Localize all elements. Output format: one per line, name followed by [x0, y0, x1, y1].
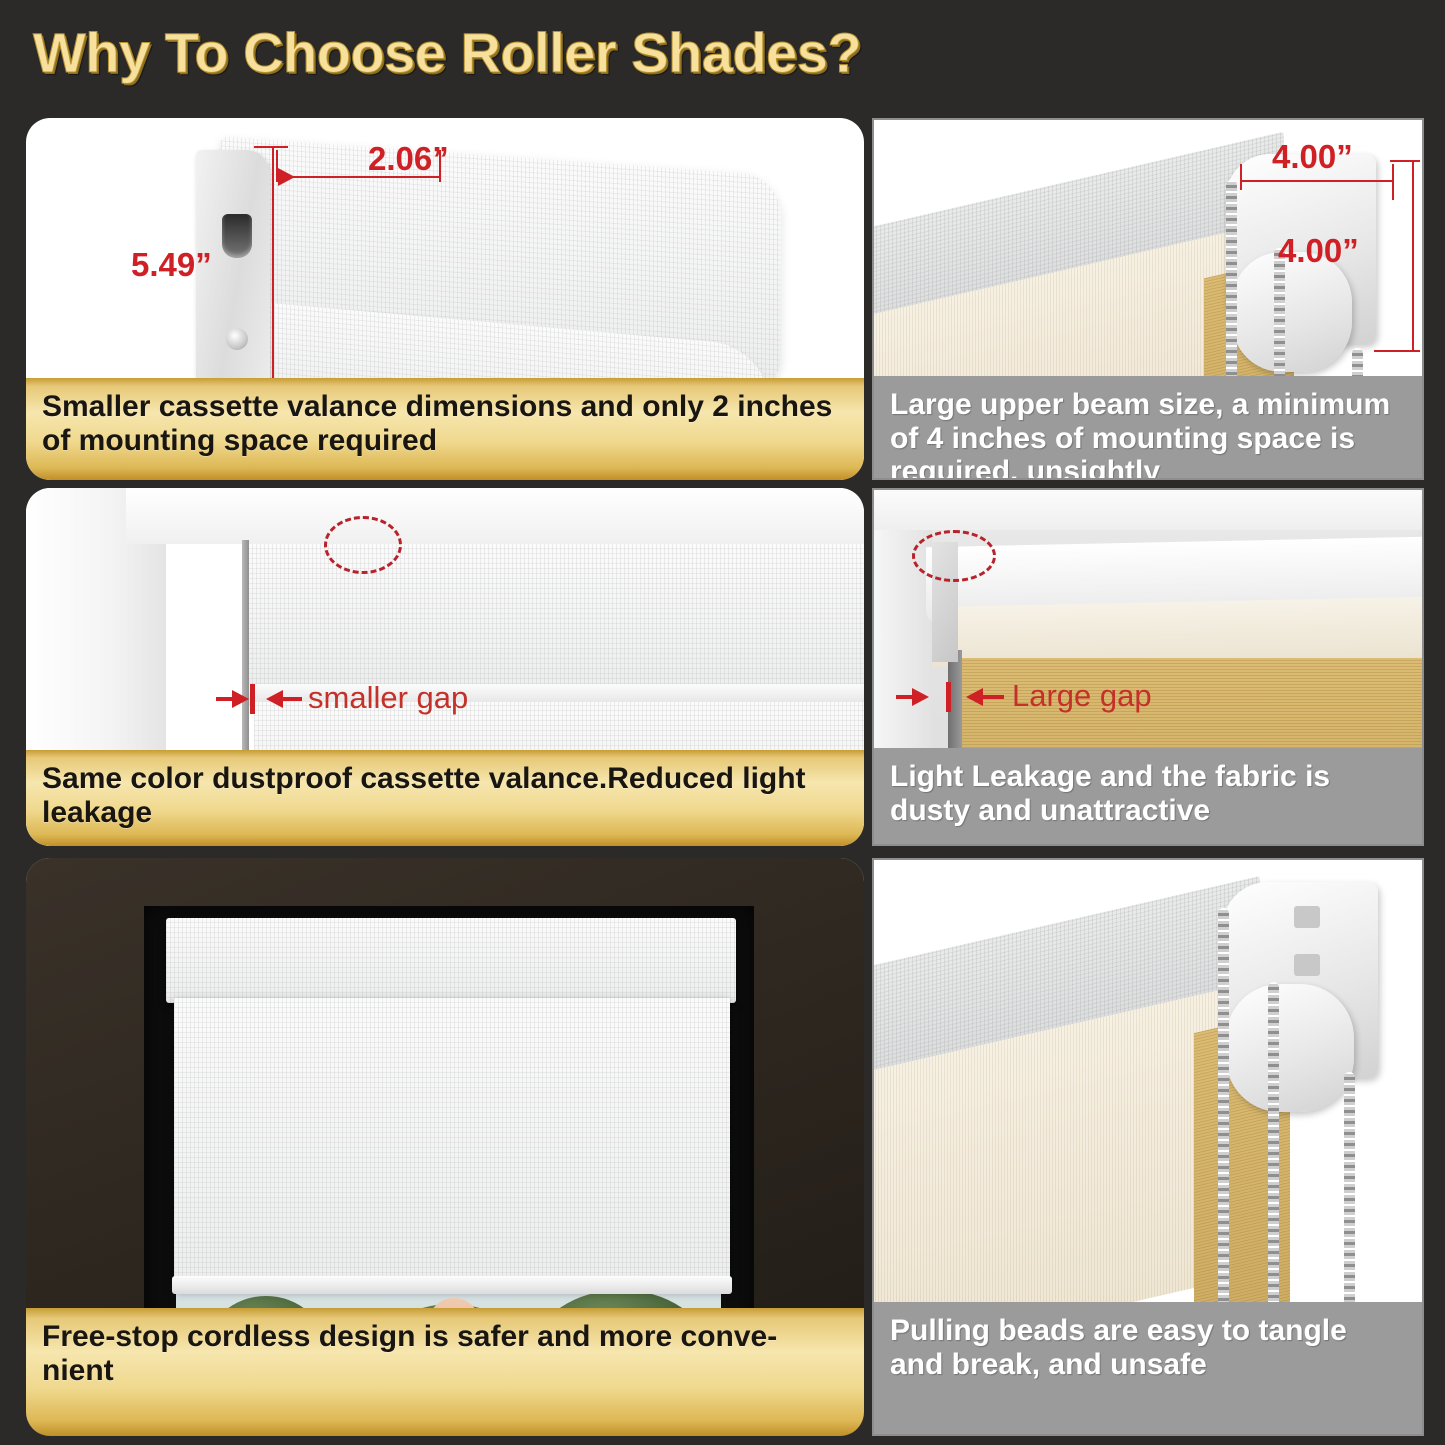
gap-arrow-right [912, 688, 929, 706]
window-frame-top [126, 488, 864, 544]
width-dim-label: 2.06” [368, 140, 449, 178]
height-dim-line [272, 146, 274, 398]
height-dim-tick-bottom [1374, 350, 1420, 352]
panel-2-caption: Large upper beam size, a minimum of 4 in… [874, 376, 1422, 478]
gap-arrow-left [966, 688, 983, 706]
gap-arrow-right-stem [896, 695, 914, 699]
panel-6-caption: Pulling beads are easy to tangle and bre… [874, 1302, 1422, 1434]
shade-fabric [174, 998, 730, 1288]
gap-arrow-right [232, 690, 249, 708]
width-dim-line [1240, 180, 1394, 182]
gap-arrow-left-stem [982, 695, 1004, 699]
width-dim-tick-right [1392, 164, 1394, 200]
panel-3-caption: Same color dustproof cassette valance.Re… [26, 750, 864, 846]
gap-marker [250, 684, 255, 714]
height-dim-tick-top [254, 146, 288, 148]
gap-label: Large gap [1012, 678, 1152, 714]
bottom-rail [172, 1276, 732, 1294]
width-dim-label: 4.00” [1272, 138, 1353, 176]
height-dim-label: 5.49” [131, 246, 212, 284]
height-dim-tick-top [1390, 160, 1420, 162]
panel-5-caption-line-2: nient [42, 1354, 848, 1388]
page-title: Why To Choose Roller Shades? [33, 20, 861, 85]
callout-circle [324, 516, 402, 574]
bracket-screw [226, 328, 248, 350]
cassette-valance [166, 918, 736, 1003]
bead-chain-left [1218, 908, 1229, 1328]
bead-chain-middle [1268, 982, 1279, 1330]
width-dim-arrow-right [278, 168, 295, 186]
gap-marker [946, 682, 951, 712]
ceiling-strip [874, 490, 1422, 530]
panel-5-caption-line-1: Free-stop cordless design is safer and m… [42, 1320, 848, 1354]
height-dim-label: 4.00” [1278, 232, 1359, 270]
width-dim-tick-left [1240, 164, 1242, 190]
bracket-lower-lobe [1226, 984, 1354, 1112]
panel-pulling-beads: Pulling beads are easy to tangle and bre… [872, 858, 1424, 1436]
panel-4-caption: Light Leakage and the fabric is dusty an… [874, 748, 1422, 844]
panel-1-caption: Smaller cassette valance dimensions and … [26, 378, 864, 480]
gap-arrow-right-stem [216, 697, 234, 701]
gap-label: smaller gap [308, 680, 468, 716]
panel-large-upper-beam: 4.00” 4.00” Large upper beam size, a min… [872, 118, 1424, 480]
gap-arrow-left-stem [282, 697, 302, 701]
callout-circle [912, 530, 996, 582]
height-dim-line [1412, 160, 1414, 352]
panel-5-caption: Free-stop cordless design is safer and m… [26, 1308, 864, 1436]
bracket-notch-bottom [1294, 954, 1320, 976]
comparison-grid: 2.06” 5.49” Smaller cassette valance dim… [0, 110, 1445, 1445]
panel-light-leakage: Large gap Light Leakage and the fabric i… [872, 488, 1424, 846]
fabric-top-band [932, 597, 1422, 667]
gap-arrow-left [266, 690, 283, 708]
bracket-notch-top [1294, 906, 1320, 928]
bracket-slot [222, 214, 252, 258]
panel-cordless-design: Free-stop cordless design is safer and m… [26, 858, 864, 1436]
bead-chain-right [1344, 1072, 1355, 1328]
panel-dustproof-valance: smaller gap Same color dustproof cassett… [26, 488, 864, 846]
bracket-lower-lobe [1232, 252, 1352, 372]
panel-smaller-cassette: 2.06” 5.49” Smaller cassette valance dim… [26, 118, 864, 480]
